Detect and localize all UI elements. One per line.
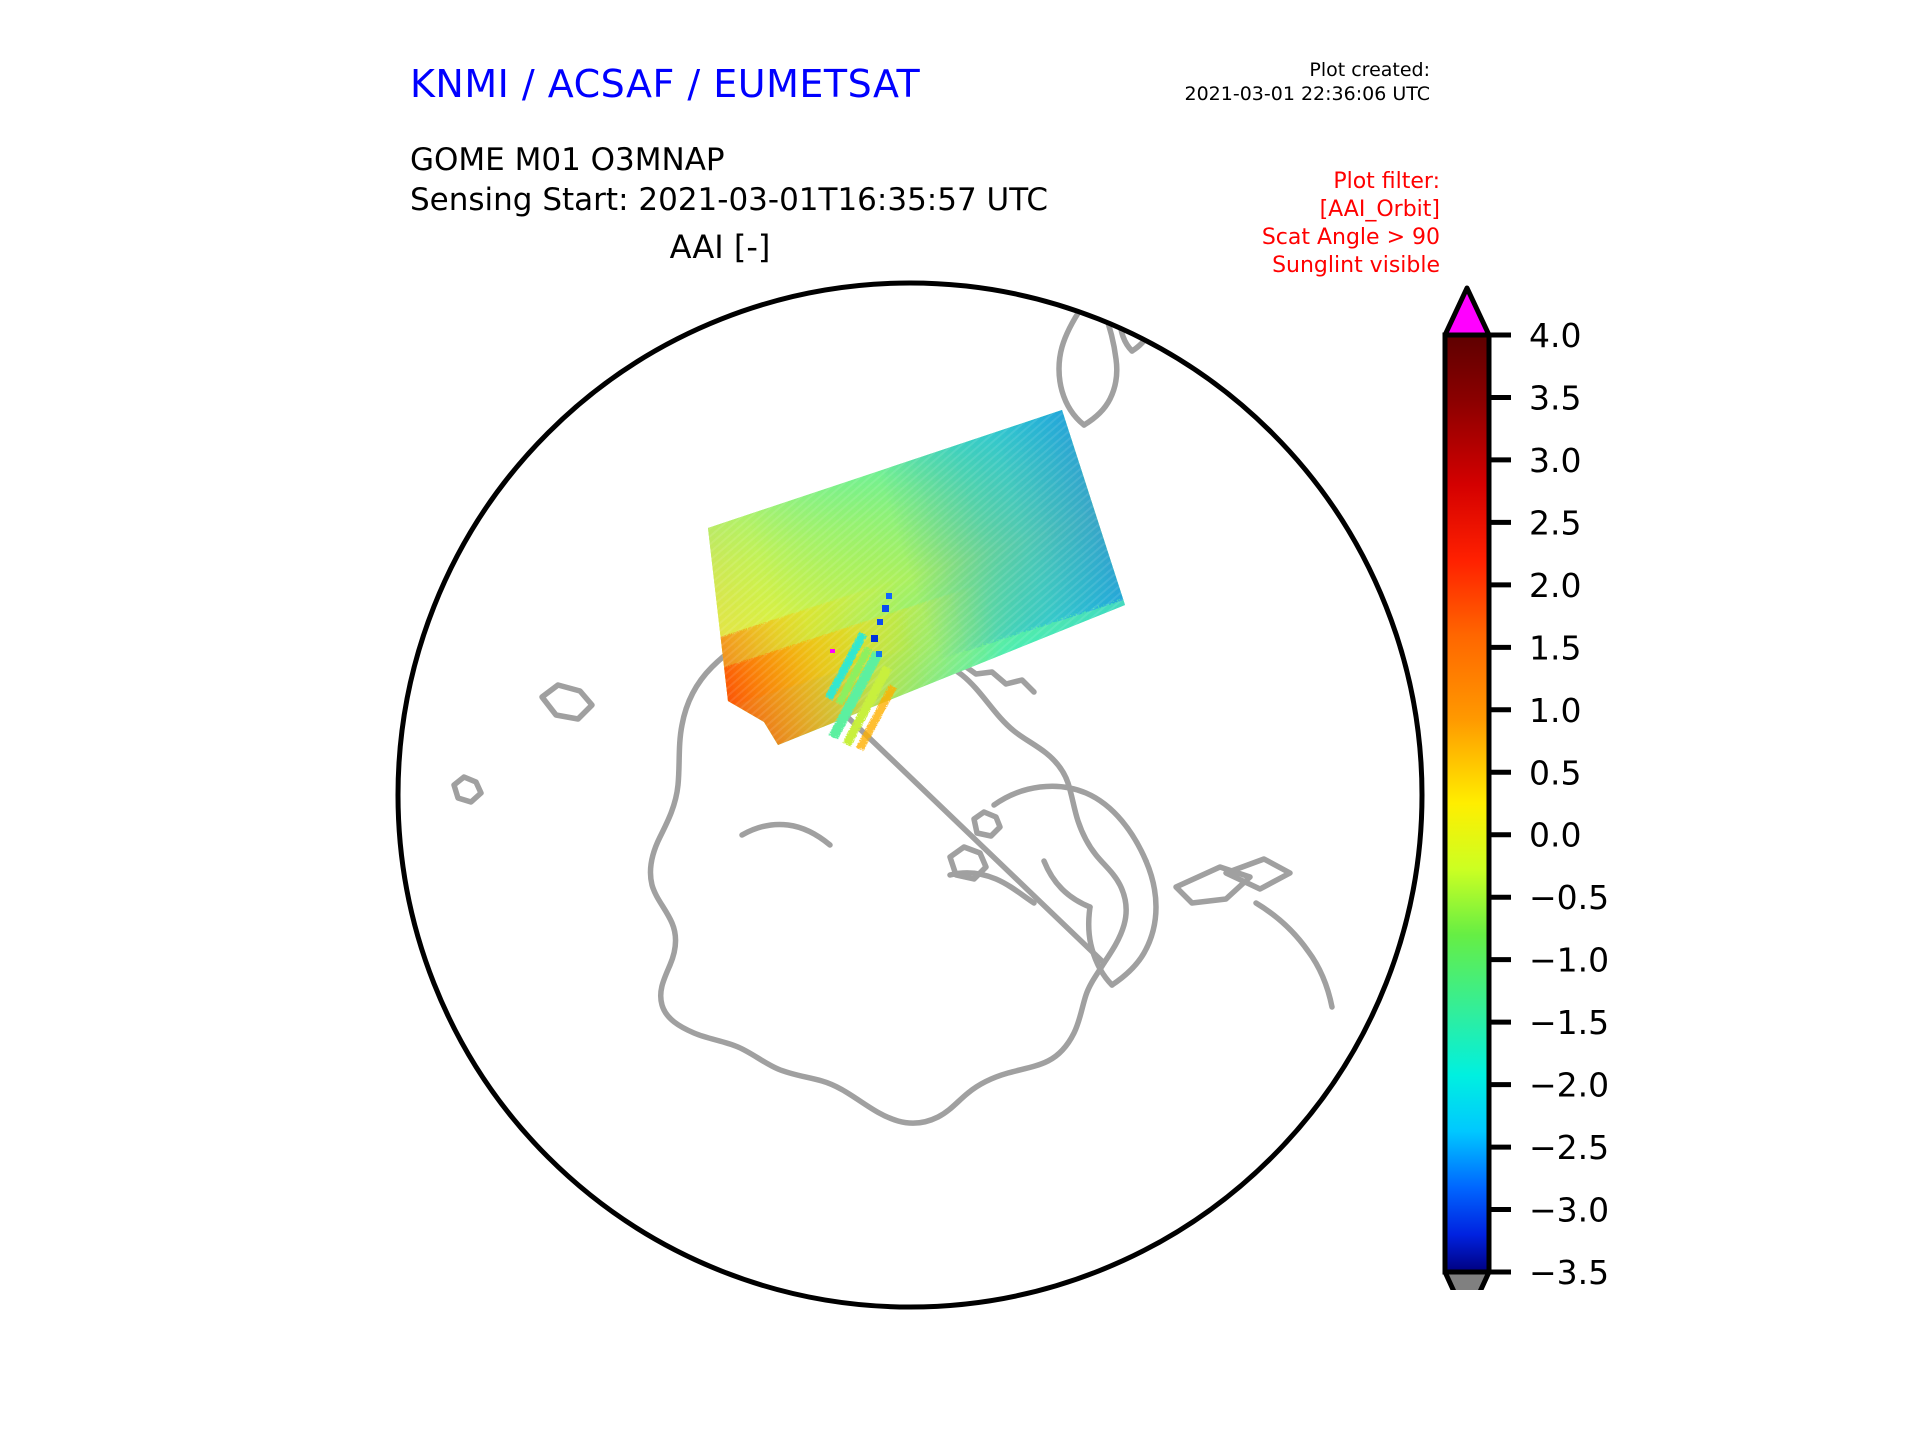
colorbar-tick-labels: 4.03.53.02.52.01.51.00.50.0−0.5−1.0−1.5−… [1529, 316, 1609, 1290]
colorbar-tick-label: −3.5 [1529, 1253, 1609, 1290]
colorbar-tick-label: −2.0 [1529, 1066, 1609, 1105]
colorbar-tick-label: −1.5 [1529, 1003, 1609, 1042]
colorbar-tick-label: −0.5 [1529, 878, 1609, 917]
plot-created-timestamp: 2021-03-01 22:36:06 UTC [1100, 82, 1430, 106]
colorbar-tick-label: 2.0 [1529, 566, 1581, 605]
colorbar-tick-label: 4.0 [1529, 316, 1581, 355]
colorbar-tick-label: 2.5 [1529, 503, 1581, 542]
organisation-title: KNMI / ACSAF / EUMETSAT [410, 62, 920, 106]
colorbar-ticks [1489, 335, 1511, 1272]
colorbar-over-arrow [1445, 288, 1489, 335]
filter-line-1: [AAI_Orbit] [1150, 196, 1440, 224]
sensing-start: Sensing Start: 2021-03-01T16:35:57 UTC [410, 180, 1048, 220]
colorbar-gradient[interactable] [1445, 335, 1489, 1272]
over-range-pixel [830, 649, 835, 653]
polar-map [390, 275, 1430, 1315]
colorbar-tick-label: 0.5 [1529, 753, 1581, 792]
colorbar-tick-label: −3.0 [1529, 1191, 1609, 1230]
colorbar-tick-label: 0.0 [1529, 816, 1581, 855]
plot-created-block: Plot created: 2021-03-01 22:36:06 UTC [1100, 58, 1430, 107]
globe-disc [398, 283, 1422, 1307]
colorbar-tick-label: −2.5 [1529, 1128, 1609, 1167]
colorbar-tick-label: 1.5 [1529, 628, 1581, 667]
filter-line-2: Scat Angle > 90 [1150, 224, 1440, 252]
filter-line-0: Plot filter: [1150, 168, 1440, 196]
product-name: GOME M01 O3MNAP [410, 140, 1048, 180]
colorbar-panel: 4.03.53.02.52.01.51.00.50.0−0.5−1.0−1.5−… [1430, 280, 1710, 1290]
plot-filter-block: Plot filter: [AAI_Orbit] Scat Angle > 90… [1150, 168, 1440, 281]
colorbar[interactable]: 4.03.53.02.52.01.51.00.50.0−0.5−1.0−1.5−… [1430, 280, 1710, 1290]
map-panel [390, 275, 1430, 1315]
colorbar-tick-label: −1.0 [1529, 941, 1609, 980]
colorbar-tick-label: 3.5 [1529, 378, 1581, 417]
plot-created-label: Plot created: [1100, 58, 1430, 82]
colorbar-under-arrow [1445, 1272, 1489, 1290]
product-info-block: GOME M01 O3MNAP Sensing Start: 2021-03-0… [410, 140, 1048, 221]
colorbar-tick-label: 3.0 [1529, 441, 1581, 480]
colorbar-tick-label: 1.0 [1529, 691, 1581, 730]
